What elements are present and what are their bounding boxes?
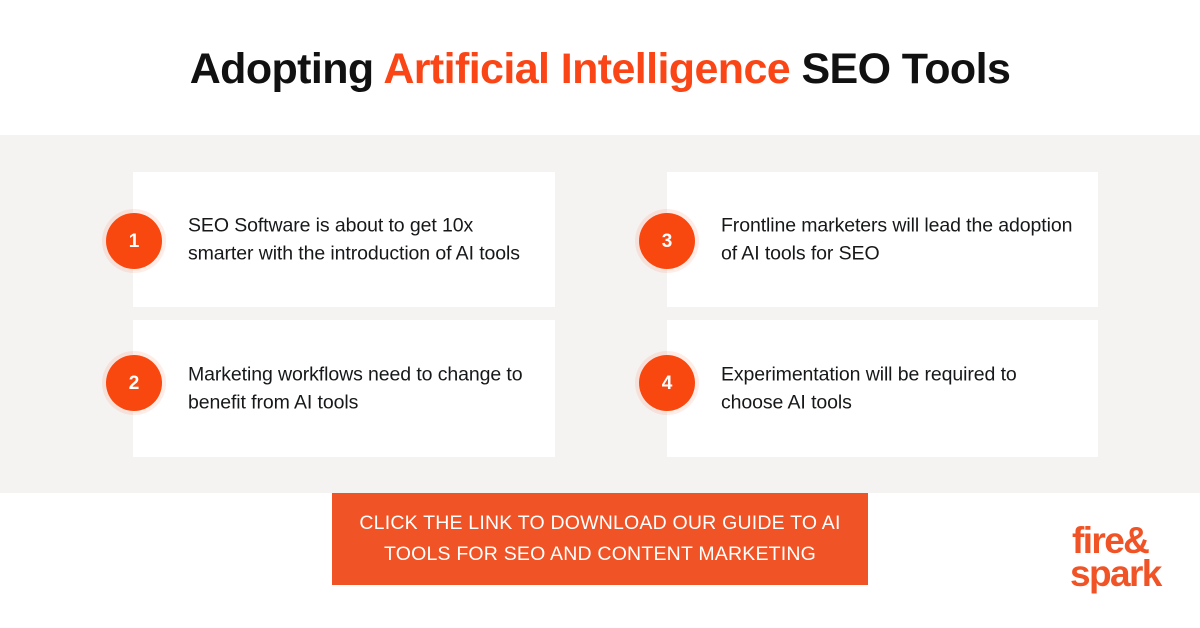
insight-card-1-text: SEO Software is about to get 10x smarter…: [188, 211, 537, 268]
insight-card-2-text: Marketing workflows need to change to be…: [188, 360, 537, 417]
logo-line-spark: spark: [1070, 557, 1188, 590]
page-title-accent: Artificial Intelligence: [383, 45, 790, 93]
page-title-part-one: Adopting: [190, 45, 384, 93]
cta-button-label: Click the link to download our guide to …: [332, 508, 868, 570]
insight-card-2: Marketing workflows need to change to be…: [133, 320, 555, 457]
insight-card-3-text: Frontline marketers will lead the adopti…: [721, 211, 1080, 268]
cta-button[interactable]: Click the link to download our guide to …: [332, 493, 868, 585]
insight-card-4-text: Experimentation will be required to choo…: [721, 360, 1080, 417]
insight-number-badge-4: 4: [639, 355, 695, 411]
page-title: Adopting Artificial Intelligence SEO Too…: [0, 41, 1200, 97]
page-title-part-two: SEO Tools: [790, 45, 1010, 93]
insight-number-badge-2: 2: [106, 355, 162, 411]
insight-card-3: Frontline marketers will lead the adopti…: [667, 172, 1098, 307]
insight-number-badge-3: 3: [639, 213, 695, 269]
insight-card-4: Experimentation will be required to choo…: [667, 320, 1098, 457]
fire-and-spark-logo: fire& spark: [1070, 524, 1188, 590]
infographic-canvas: Adopting Artificial Intelligence SEO Too…: [0, 0, 1200, 628]
insight-card-1: SEO Software is about to get 10x smarter…: [133, 172, 555, 307]
title-band: Adopting Artificial Intelligence SEO Too…: [0, 0, 1200, 135]
insight-number-badge-1: 1: [106, 213, 162, 269]
